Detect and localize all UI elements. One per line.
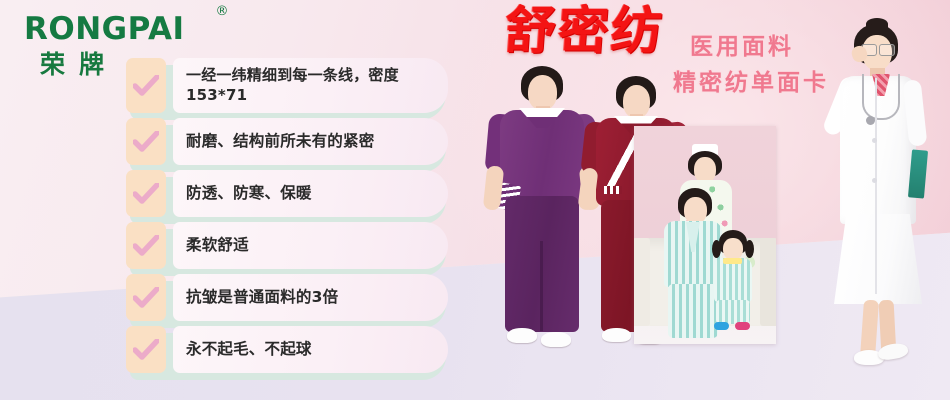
feature-pill: 抗皱是普通面料的3倍 bbox=[173, 274, 448, 321]
collar bbox=[723, 258, 742, 264]
feature-label: 抗皱是普通面料的3倍 bbox=[186, 288, 338, 308]
feature-label: 耐磨、结构前所未有的紧密 bbox=[186, 132, 374, 152]
face bbox=[528, 75, 557, 110]
pocket-trim bbox=[604, 186, 622, 194]
shoe-right bbox=[541, 332, 571, 347]
clipboard-icon bbox=[908, 149, 928, 198]
brand-wordmark: RONGPAI ® bbox=[24, 14, 214, 45]
sofa-arm-left bbox=[634, 238, 650, 326]
coat-button bbox=[872, 178, 877, 183]
feature-pill: 防透、防寒、保暖 bbox=[173, 170, 448, 217]
check-icon bbox=[126, 274, 166, 321]
pants-seam bbox=[540, 241, 543, 331]
check-icon bbox=[126, 118, 166, 165]
promo-banner: RONGPAI ® 荣牌 一经一纬精细到每一条线，密度153*71 bbox=[0, 0, 950, 400]
brand-wordmark-text: RONGPAI bbox=[24, 11, 185, 47]
feature-label: 永不起毛、不起球 bbox=[186, 340, 312, 360]
check-icon bbox=[126, 326, 166, 373]
sandal-right bbox=[735, 322, 750, 330]
feature-label: 一经一纬精细到每一条线，密度153*71 bbox=[186, 66, 440, 104]
feature-item[interactable]: 抗皱是普通面料的3倍 bbox=[126, 274, 446, 321]
check-icon-glyph bbox=[133, 235, 159, 257]
feature-label: 防透、防寒、保暖 bbox=[186, 184, 312, 204]
stethoscope-bell-icon bbox=[866, 116, 875, 125]
check-icon-glyph bbox=[133, 287, 159, 309]
model-doctor bbox=[818, 18, 936, 370]
shoe-left bbox=[602, 328, 631, 342]
striped-pajama-pants bbox=[716, 300, 750, 324]
shoe-left bbox=[507, 328, 537, 343]
registered-trademark-icon: ® bbox=[216, 5, 230, 18]
feature-pill: 永不起毛、不起球 bbox=[173, 326, 448, 373]
face bbox=[723, 238, 743, 260]
check-icon-glyph bbox=[133, 339, 159, 361]
check-icon bbox=[126, 170, 166, 217]
headline-subtitle-2: 精密纺单面卡 bbox=[673, 72, 829, 95]
glasses-lens-right bbox=[879, 44, 895, 56]
family-photo-card bbox=[634, 126, 776, 344]
model-child bbox=[710, 230, 756, 332]
headline-subtitle-1: 医用面料 bbox=[690, 36, 794, 59]
feature-item[interactable]: 一经一纬精细到每一条线，密度153*71 bbox=[126, 58, 446, 113]
face bbox=[684, 197, 707, 224]
striped-pajama-top bbox=[714, 258, 752, 302]
feature-item[interactable]: 防透、防寒、保暖 bbox=[126, 170, 446, 217]
sofa-arm-right bbox=[760, 238, 776, 326]
coat-placket bbox=[875, 78, 877, 294]
feature-label: 柔软舒适 bbox=[186, 236, 249, 256]
feature-list: 一经一纬精细到每一条线，密度153*71 耐磨、结构前所未有的紧密 bbox=[126, 58, 446, 378]
sandal-left bbox=[714, 322, 729, 330]
arm-left bbox=[578, 167, 599, 211]
check-icon-glyph bbox=[133, 131, 159, 153]
feature-pill: 耐磨、结构前所未有的紧密 bbox=[173, 118, 448, 165]
headline-title: 舒密纺 bbox=[503, 6, 666, 57]
feature-item[interactable]: 柔软舒适 bbox=[126, 222, 446, 269]
check-icon bbox=[126, 58, 166, 113]
feature-pill: 柔软舒适 bbox=[173, 222, 448, 269]
coat-button bbox=[872, 138, 877, 143]
feature-item[interactable]: 耐磨、结构前所未有的紧密 bbox=[126, 118, 446, 165]
white-coat-skirt bbox=[834, 214, 922, 304]
stethoscope-icon bbox=[862, 74, 900, 120]
feature-item[interactable]: 永不起毛、不起球 bbox=[126, 326, 446, 373]
check-icon bbox=[126, 222, 166, 269]
feature-pill: 一经一纬精细到每一条线，密度153*71 bbox=[173, 58, 448, 113]
check-icon-glyph bbox=[133, 75, 159, 97]
check-icon-glyph bbox=[133, 183, 159, 205]
